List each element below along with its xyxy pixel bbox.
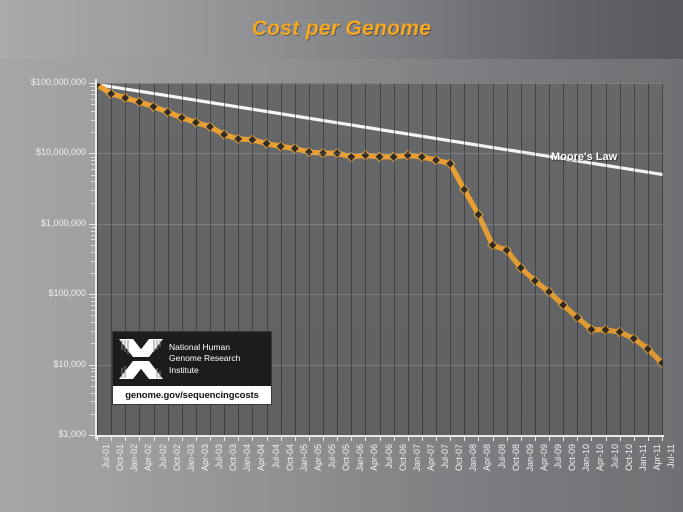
x-axis-tick — [380, 436, 381, 441]
x-axis-tick — [450, 436, 451, 441]
page-title: Cost per Genome — [0, 17, 683, 41]
vertical-gridline — [394, 83, 395, 435]
vertical-gridline — [422, 83, 423, 435]
y-axis-tick-minor — [91, 393, 95, 394]
y-axis-tick-minor — [91, 331, 95, 332]
x-axis-tick — [139, 436, 140, 441]
y-axis-tick-minor — [91, 90, 95, 91]
x-axis-label: Jul-04 — [271, 444, 281, 469]
x-axis-label: Jul-03 — [214, 444, 224, 469]
vertical-gridline — [309, 83, 310, 435]
logo-line-3: Institute — [169, 365, 240, 377]
y-axis — [95, 79, 97, 439]
y-axis-tick-minor — [91, 322, 95, 323]
logo-url[interactable]: genome.gov/sequencingcosts — [113, 386, 271, 404]
x-axis-label: Jul-08 — [497, 444, 507, 469]
vertical-gridline — [323, 83, 324, 435]
y-axis-tick-minor — [91, 132, 95, 133]
vertical-gridline — [507, 83, 508, 435]
x-axis-label: Oct-06 — [398, 444, 408, 471]
x-axis-label: Jul-10 — [610, 444, 620, 469]
vertical-gridline — [295, 83, 296, 435]
y-axis-tick-minor — [91, 273, 95, 274]
x-axis-label: Oct-10 — [624, 444, 634, 471]
x-axis-label: Oct-04 — [285, 444, 295, 471]
y-axis-tick-minor — [91, 380, 95, 381]
horizontal-gridline — [96, 294, 663, 295]
x-axis-label: Jul-11 — [666, 444, 676, 468]
x-axis-tick — [210, 436, 211, 441]
x-axis-label: Jul-05 — [327, 444, 337, 469]
x-axis-tick — [577, 436, 578, 441]
vertical-gridline — [535, 83, 536, 435]
y-axis-tick-minor — [91, 231, 95, 232]
x-axis-tick — [351, 436, 352, 441]
x-axis-tick — [563, 436, 564, 441]
x-axis-tick — [295, 436, 296, 441]
y-axis-tick-minor — [91, 315, 95, 316]
x-axis-label: Jan-04 — [242, 444, 252, 472]
y-axis-tick-minor — [91, 164, 95, 165]
y-axis-tick-minor — [91, 414, 95, 415]
y-axis-label: $1,000 — [0, 429, 86, 439]
x-axis-tick — [436, 436, 437, 441]
vertical-gridline — [408, 83, 409, 435]
x-axis-label: Oct-05 — [341, 444, 351, 471]
logo-institute-name: National Human Genome Research Institute — [165, 342, 240, 377]
x-axis-label: Apr-10 — [595, 444, 605, 471]
y-axis-tick-minor — [91, 386, 95, 387]
vertical-gridline — [351, 83, 352, 435]
y-axis-tick-minor — [91, 227, 95, 228]
x-axis-label: Apr-11 — [652, 444, 662, 470]
vertical-gridline — [281, 83, 282, 435]
y-axis-tick-minor — [91, 305, 95, 306]
y-axis-tick-minor — [91, 160, 95, 161]
y-axis-tick-minor — [91, 239, 95, 240]
x-axis-label: Oct-03 — [228, 444, 238, 471]
y-axis-tick-minor — [91, 297, 95, 298]
vertical-gridline — [549, 83, 550, 435]
vertical-gridline — [591, 83, 592, 435]
vertical-gridline — [662, 83, 663, 435]
x-axis-label: Jul-02 — [158, 444, 168, 469]
y-axis-tick-minor — [91, 401, 95, 402]
x-axis-tick — [521, 436, 522, 441]
y-axis-tick-minor — [91, 245, 95, 246]
x-axis-label: Apr-03 — [200, 444, 210, 471]
x-axis-tick — [549, 436, 550, 441]
y-axis-tick-minor — [91, 310, 95, 311]
x-axis-tick — [125, 436, 126, 441]
y-axis-tick-minor — [91, 86, 95, 87]
chart-canvas: Cost per Genome $100,000,000$10,000,000$… — [0, 0, 683, 512]
y-axis-label: $10,000,000 — [0, 147, 86, 157]
x-axis-label: Oct-07 — [454, 444, 464, 471]
y-axis-tick-major — [89, 294, 96, 295]
y-axis-tick-minor — [91, 343, 95, 344]
y-axis-label: $100,000 — [0, 288, 86, 298]
x-axis-tick — [154, 436, 155, 441]
x-axis-tick — [337, 436, 338, 441]
x-axis-tick — [478, 436, 479, 441]
x-axis-label: Jan-07 — [412, 444, 422, 472]
y-axis-tick-minor — [91, 94, 95, 95]
y-axis-tick-minor — [91, 157, 95, 158]
logo-top-section: National Human Genome Research Institute — [113, 332, 271, 386]
x-axis-label: Apr-06 — [369, 444, 379, 471]
vertical-gridline — [648, 83, 649, 435]
vertical-gridline — [620, 83, 621, 435]
x-axis-label: Jul-09 — [553, 444, 563, 469]
x-axis-tick — [634, 436, 635, 441]
x-axis-label: Apr-02 — [143, 444, 153, 471]
horizontal-gridline — [96, 83, 663, 84]
x-axis-label: Jan-02 — [129, 444, 139, 472]
y-axis-tick-minor — [91, 120, 95, 121]
vertical-gridline — [606, 83, 607, 435]
y-axis-tick-minor — [91, 104, 95, 105]
x-axis-tick — [252, 436, 253, 441]
vertical-gridline — [577, 83, 578, 435]
x-axis-label: Apr-04 — [256, 444, 266, 471]
x-axis-tick — [97, 436, 98, 441]
x-axis-tick — [620, 436, 621, 441]
y-axis-tick-minor — [91, 203, 95, 204]
x-axis-label: Jul-01 — [101, 444, 111, 469]
x-axis-label: Jul-07 — [440, 444, 450, 469]
x-axis-label: Jan-06 — [355, 444, 365, 472]
vertical-gridline — [493, 83, 494, 435]
x-axis-label: Apr-05 — [313, 444, 323, 471]
x-axis-tick — [323, 436, 324, 441]
y-axis-tick-minor — [91, 181, 95, 182]
y-axis-tick-minor — [91, 371, 95, 372]
x-axis-tick — [168, 436, 169, 441]
x-axis-tick — [535, 436, 536, 441]
x-axis-label: Jan-09 — [525, 444, 535, 472]
vertical-gridline — [634, 83, 635, 435]
vertical-gridline — [464, 83, 465, 435]
vertical-gridline — [450, 83, 451, 435]
x-axis-label: Jul-06 — [384, 444, 394, 469]
y-axis-tick-minor — [91, 175, 95, 176]
x-axis-label: Oct-08 — [511, 444, 521, 471]
nhgri-logo[interactable]: National Human Genome Research Institute… — [112, 331, 272, 405]
x-axis-tick — [309, 436, 310, 441]
vertical-gridline — [521, 83, 522, 435]
x-axis-tick — [408, 436, 409, 441]
y-axis-tick-minor — [91, 111, 95, 112]
x-axis-tick — [422, 436, 423, 441]
y-axis-tick-minor — [91, 190, 95, 191]
x-axis-tick — [238, 436, 239, 441]
x-axis-tick — [507, 436, 508, 441]
x-axis-tick — [648, 436, 649, 441]
x-axis-tick — [606, 436, 607, 441]
x-axis-label: Oct-02 — [172, 444, 182, 471]
vertical-gridline — [365, 83, 366, 435]
y-axis-tick-minor — [91, 252, 95, 253]
x-axis-tick — [493, 436, 494, 441]
y-axis-tick-major — [89, 153, 96, 154]
logo-line-1: National Human — [169, 342, 240, 354]
x-axis-label: Jan-11 — [638, 444, 648, 471]
x-axis-tick — [182, 436, 183, 441]
y-axis-label: $100,000,000 — [0, 77, 86, 87]
y-axis-tick-minor — [91, 368, 95, 369]
y-axis-tick-major — [89, 83, 96, 84]
y-axis-tick-minor — [91, 235, 95, 236]
x-axis-label: Apr-07 — [426, 444, 436, 471]
x-axis-label: Oct-09 — [567, 444, 577, 471]
x-axis-tick — [224, 436, 225, 441]
y-axis-label: $10,000 — [0, 359, 86, 369]
x-axis-label: Apr-09 — [539, 444, 549, 471]
logo-line-2: Genome Research — [169, 353, 240, 365]
x-axis-tick — [365, 436, 366, 441]
x-axis-label: Apr-08 — [482, 444, 492, 471]
y-axis-tick-minor — [91, 261, 95, 262]
x-axis-tick — [281, 436, 282, 441]
x-axis-tick — [267, 436, 268, 441]
x-axis-tick — [662, 436, 663, 441]
x-axis-tick — [394, 436, 395, 441]
nhgri-dna-helix-mark — [117, 337, 165, 381]
y-axis-tick-major — [89, 224, 96, 225]
vertical-gridline — [380, 83, 381, 435]
vertical-gridline — [478, 83, 479, 435]
x-axis-label: Oct-01 — [115, 444, 125, 471]
y-axis-label: $1,000,000 — [0, 218, 86, 228]
y-axis-tick-major — [89, 435, 96, 436]
x-axis-label: Jan-08 — [468, 444, 478, 472]
y-axis-tick-minor — [91, 99, 95, 100]
x-axis-label: Jan-05 — [299, 444, 309, 472]
vertical-gridline — [97, 83, 98, 435]
moores-law-label: Moore's Law — [551, 151, 617, 163]
x-axis-tick — [196, 436, 197, 441]
y-axis-tick-minor — [91, 376, 95, 377]
x-axis-tick — [111, 436, 112, 441]
x-axis-label: Jan-03 — [186, 444, 196, 472]
y-axis-tick-minor — [91, 301, 95, 302]
vertical-gridline — [563, 83, 564, 435]
y-axis-tick-minor — [91, 169, 95, 170]
x-axis-tick — [591, 436, 592, 441]
y-axis-tick-major — [89, 365, 96, 366]
title-banner: Cost per Genome — [0, 0, 683, 59]
x-axis-label: Jan-10 — [581, 444, 591, 472]
vertical-gridline — [436, 83, 437, 435]
x-axis-tick — [464, 436, 465, 441]
horizontal-gridline — [96, 224, 663, 225]
vertical-gridline — [337, 83, 338, 435]
